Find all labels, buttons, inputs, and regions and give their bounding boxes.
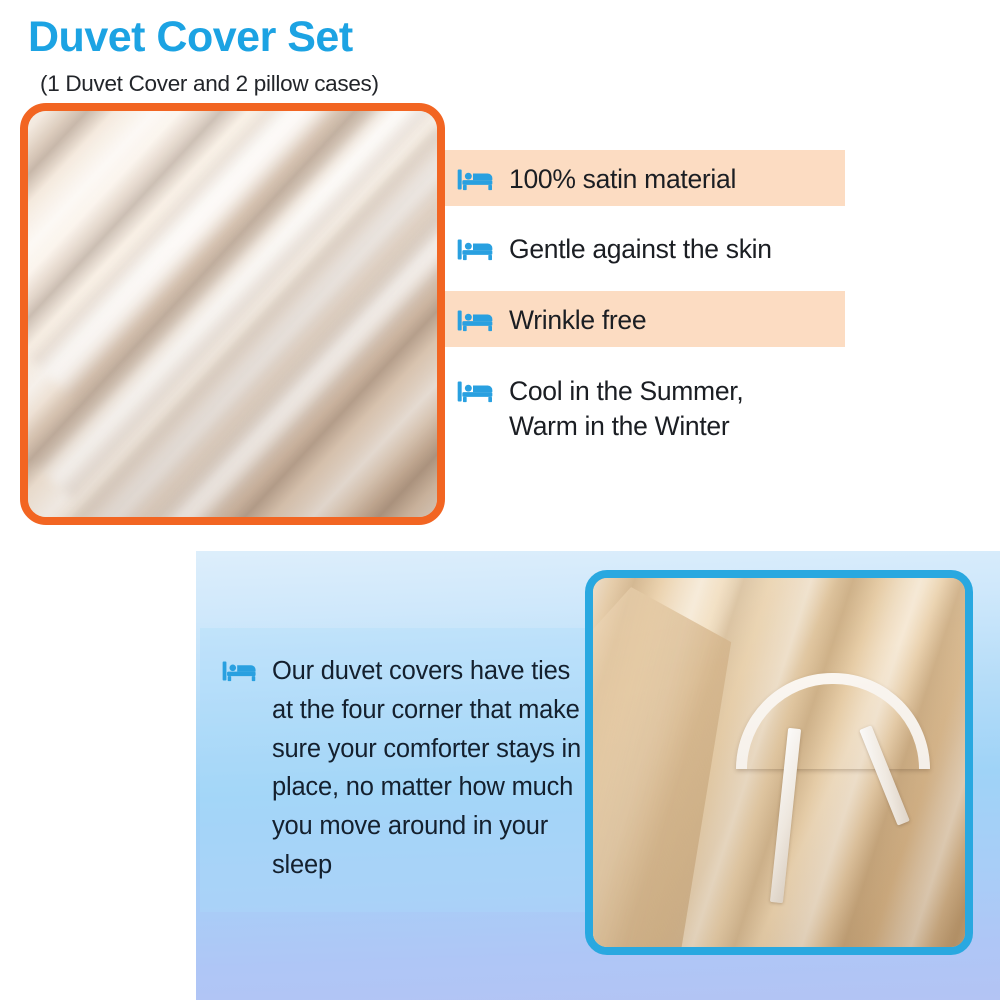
bed-icon <box>457 307 497 334</box>
feature-label: 100% satin material <box>509 162 736 197</box>
feature-item-cool-warm: Cool in the Summer, Warm in the Winter <box>445 362 845 450</box>
page-subtitle: (1 Duvet Cover and 2 pillow cases) <box>40 71 379 97</box>
feature-label: Gentle against the skin <box>509 232 772 267</box>
duvet-ties-photo <box>585 570 973 955</box>
fabric-shading <box>20 103 445 525</box>
page-title: Duvet Cover Set <box>28 14 353 60</box>
ties-feature-panel: Our duvet covers have ties at the four c… <box>196 551 1000 1000</box>
satin-texture <box>20 103 445 525</box>
ties-text-row: Our duvet covers have ties at the four c… <box>222 652 592 885</box>
ties-text-box: Our duvet covers have ties at the four c… <box>200 628 604 912</box>
bed-icon <box>457 378 497 405</box>
bed-icon <box>457 236 497 263</box>
ties-description: Our duvet covers have ties at the four c… <box>272 652 592 885</box>
feature-item-gentle-skin: Gentle against the skin <box>445 220 845 276</box>
fabric-shading <box>585 570 973 955</box>
bed-icon <box>457 166 497 193</box>
satin-texture <box>585 570 973 955</box>
satin-fabric-photo <box>20 103 445 525</box>
feature-label: Cool in the Summer, Warm in the Winter <box>509 374 743 444</box>
feature-label: Wrinkle free <box>509 303 646 338</box>
infographic-canvas: Duvet Cover Set (1 Duvet Cover and 2 pil… <box>0 0 1000 1000</box>
bed-icon <box>222 658 260 684</box>
feature-item-satin-material: 100% satin material <box>445 150 845 206</box>
feature-item-wrinkle-free: Wrinkle free <box>445 291 845 347</box>
